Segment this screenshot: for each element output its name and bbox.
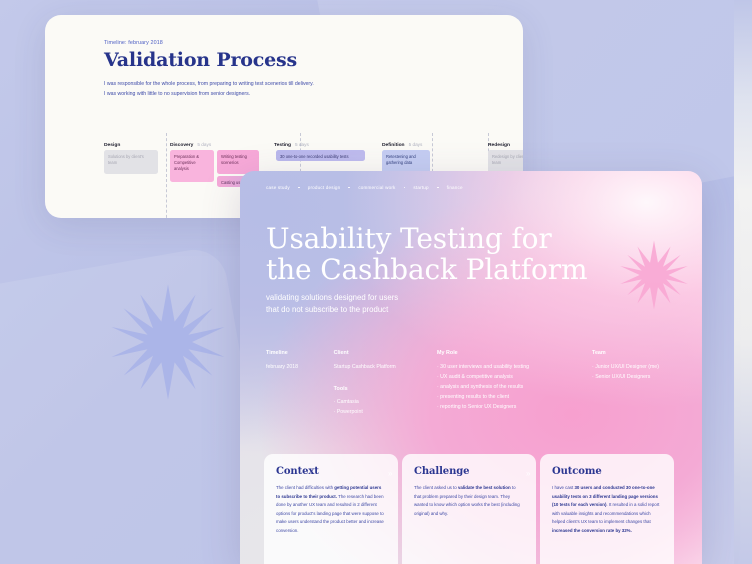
gantt-header-days: 5 days [197, 142, 211, 147]
meta-role-item: · reporting to Senior UX Designers [437, 403, 592, 413]
background-star-icon [108, 282, 228, 402]
hero-subtitle: validating solutions designed for users … [266, 292, 398, 316]
gantt-header-label: Design [104, 143, 120, 148]
project-meta: Timeline february 2018 Client Startup Ca… [266, 350, 686, 418]
meta-value-client: Startup Cashback Platform [334, 363, 437, 372]
gantt-header-definition: Definition5 days [382, 133, 422, 151]
info-card-context: Context The client had difficulties with… [264, 454, 398, 564]
meta-team-item: · Senior UX/UI Designers [592, 373, 686, 383]
chevron-right-double-icon: » [388, 470, 402, 478]
tag-separator-dot-icon [348, 187, 350, 189]
meta-role-item: · analysis and synthesis of the results [437, 383, 592, 393]
meta-tool-item: · Powerpoint [334, 408, 437, 418]
meta-column-team: Team · Junior UX/UI Designer (me) · Seni… [592, 350, 686, 418]
info-card-title: Outcome [552, 466, 662, 477]
hero-title: Usability Testing for the Cashback Platf… [266, 223, 596, 286]
info-card-body: I have cast 30 users and conducted 30 on… [552, 484, 662, 535]
tag-case-study[interactable]: case study [266, 185, 290, 190]
gantt-header-label: Redesign [488, 143, 510, 148]
tag-startup[interactable]: startup [413, 185, 428, 190]
gantt-header-days: 5 days [409, 142, 423, 147]
meta-team-item: · Junior UX/UI Designer (me) [592, 363, 686, 373]
gantt-header-redesign: Redesign [488, 133, 514, 151]
meta-column-client: Client Startup Cashback Platform Tools ·… [334, 350, 437, 418]
hero-subtitle-line-1: validating solutions designed for users [266, 292, 398, 304]
tag-list: case study product design commercial wor… [266, 185, 463, 190]
meta-heading-team: Team [592, 350, 686, 356]
validation-process-description: I was responsible for the whole process,… [104, 80, 316, 99]
tag-finance[interactable]: finance [447, 185, 463, 190]
meta-value-timeline: february 2018 [266, 363, 334, 372]
tag-separator-dot-icon [298, 187, 300, 189]
info-card-title: Challenge [414, 466, 524, 477]
info-card-body: The client had difficulties with getting… [276, 484, 386, 535]
meta-heading-my-role: My Role [437, 350, 592, 356]
gantt-header-discovery: Discovery5 days [170, 133, 211, 151]
meta-tool-item: · Camtasia [334, 398, 437, 408]
tag-commercial-work[interactable]: commercial work [358, 185, 395, 190]
hero-subtitle-line-2: that do not subscribe to the product [266, 304, 398, 316]
info-card-body: The client asked us to validate the best… [414, 484, 524, 518]
info-card-outcome: » Outcome I have cast 30 users and condu… [540, 454, 674, 564]
hero-title-line-1: Usability Testing for [266, 223, 596, 254]
tag-separator-dot-icon [404, 187, 406, 189]
gantt-header-label: Testing [274, 143, 291, 148]
gantt-bar: Preparation & Competitive analysis [170, 150, 214, 182]
info-card-challenge: » Challenge The client asked us to valid… [402, 454, 536, 564]
tag-product-design[interactable]: product design [308, 185, 341, 190]
gantt-bar: Solutions by client's team [104, 150, 158, 174]
gantt-bar: 30 one-to-one recorded usability tests [276, 150, 365, 161]
gantt-header-testing: Testing5 days [274, 133, 309, 151]
tag-separator-dot-icon [437, 187, 439, 189]
meta-role-item: · presenting results to the client [437, 393, 592, 403]
meta-heading-tools: Tools [334, 386, 437, 392]
info-card-row: Context The client had difficulties with… [264, 454, 680, 564]
info-card-title: Context [276, 466, 386, 477]
gantt-header-design: Design [104, 133, 124, 151]
hero-star-icon [618, 239, 690, 316]
hero-title-line-2: the Cashback Platform [266, 254, 596, 285]
meta-role-item: · UX audit & competitive analysis [437, 373, 592, 383]
gantt-header-label: Definition [382, 143, 405, 148]
meta-heading-client: Client [334, 350, 437, 356]
meta-column-role: My Role · 30 user interviews and usabili… [437, 350, 592, 418]
timeline-eyebrow: Timeline: february 2018 [104, 40, 523, 46]
gantt-header-days: 5 days [295, 142, 309, 147]
case-study-hero-card: case study product design commercial wor… [240, 171, 702, 564]
validation-process-title: Validation Process [104, 51, 523, 70]
meta-role-item: · 30 user interviews and usability testi… [437, 363, 592, 373]
meta-column-timeline: Timeline february 2018 [266, 350, 334, 418]
meta-heading-timeline: Timeline [266, 350, 334, 356]
gantt-header-label: Discovery [170, 143, 193, 148]
background-edge-glow [734, 0, 752, 564]
chevron-right-double-icon: » [526, 470, 540, 478]
